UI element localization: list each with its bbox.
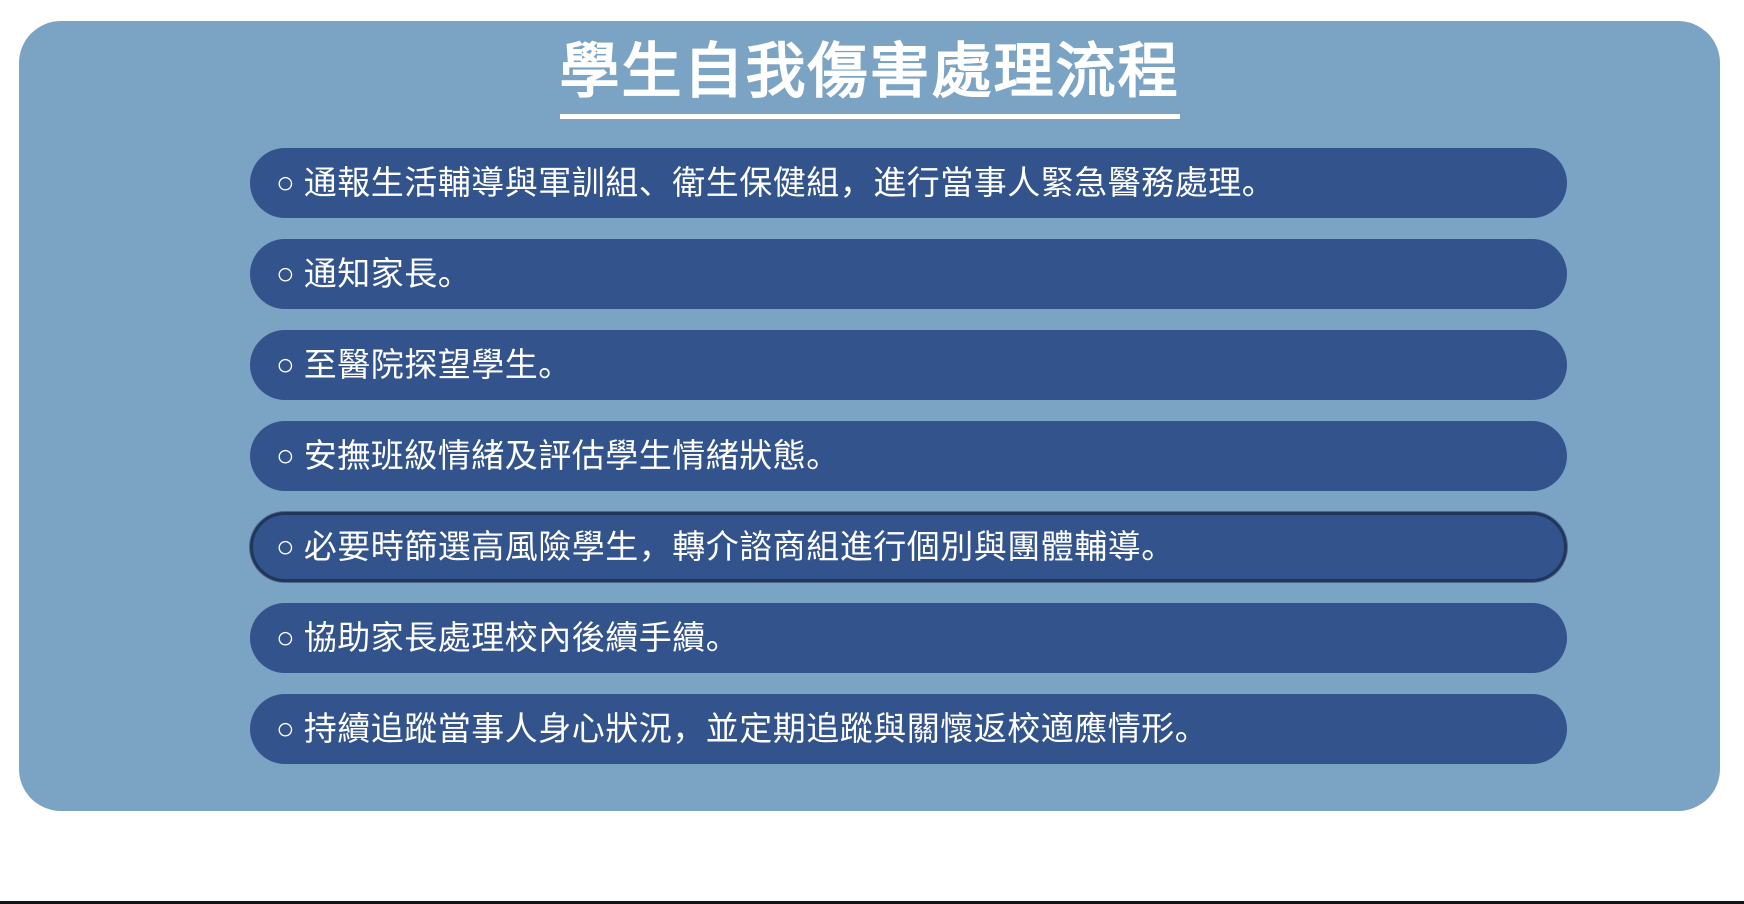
- step-list: ○通報生活輔導與軍訓組、衛生保健組，進行當事人緊急醫務處理。○通知家長。○至醫院…: [250, 148, 1567, 764]
- step-label: 安撫班級情緒及評估學生情緒狀態。: [304, 436, 840, 476]
- step-row[interactable]: ○通知家長。: [250, 239, 1567, 309]
- step-label: 協助家長處理校內後續手續。: [304, 618, 740, 658]
- page-title: 學生自我傷害處理流程: [560, 37, 1180, 119]
- step-row[interactable]: ○必要時篩選高風險學生，轉介諮商組進行個別與團體輔導。: [250, 512, 1567, 582]
- title-container: 學生自我傷害處理流程: [19, 37, 1720, 119]
- step-label: 通知家長。: [304, 254, 472, 294]
- step-label: 必要時篩選高風險學生，轉介諮商組進行個別與團體輔導。: [304, 527, 1175, 567]
- circle-bullet-icon: ○: [276, 440, 295, 471]
- circle-bullet-icon: ○: [276, 349, 295, 380]
- step-row[interactable]: ○協助家長處理校內後續手續。: [250, 603, 1567, 673]
- step-row[interactable]: ○安撫班級情緒及評估學生情緒狀態。: [250, 421, 1567, 491]
- step-label: 持續追蹤當事人身心狀況，並定期追蹤與關懷返校適應情形。: [304, 709, 1209, 749]
- step-label: 至醫院探望學生。: [304, 345, 572, 385]
- step-label: 通報生活輔導與軍訓組、衛生保健組，進行當事人緊急醫務處理。: [304, 163, 1276, 203]
- circle-bullet-icon: ○: [276, 713, 295, 744]
- circle-bullet-icon: ○: [276, 622, 295, 653]
- circle-bullet-icon: ○: [276, 531, 295, 562]
- circle-bullet-icon: ○: [276, 258, 295, 289]
- step-row[interactable]: ○持續追蹤當事人身心狀況，並定期追蹤與關懷返校適應情形。: [250, 694, 1567, 764]
- content-panel: 學生自我傷害處理流程 ○通報生活輔導與軍訓組、衛生保健組，進行當事人緊急醫務處理…: [19, 21, 1720, 811]
- step-row[interactable]: ○通報生活輔導與軍訓組、衛生保健組，進行當事人緊急醫務處理。: [250, 148, 1567, 218]
- circle-bullet-icon: ○: [276, 167, 295, 198]
- step-row[interactable]: ○至醫院探望學生。: [250, 330, 1567, 400]
- slide-canvas: 學生自我傷害處理流程 ○通報生活輔導與軍訓組、衛生保健組，進行當事人緊急醫務處理…: [0, 0, 1744, 904]
